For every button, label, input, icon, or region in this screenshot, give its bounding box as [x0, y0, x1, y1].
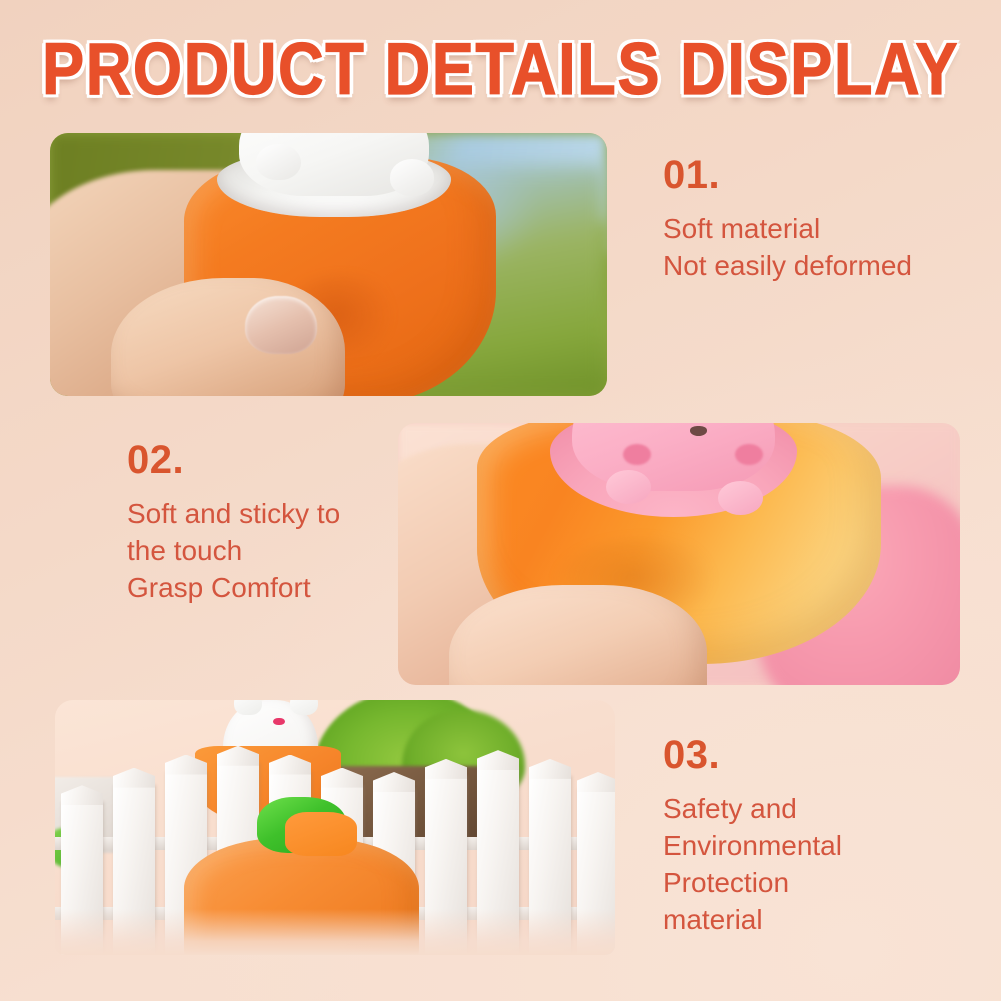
feature-line: Not easily deformed — [663, 248, 912, 285]
product-details-display-page: PRODUCT DETAILS DISPLAY 01. Soft materia… — [0, 0, 1001, 1001]
photo-2-scene — [398, 423, 960, 685]
feature-text-1: Soft material Not easily deformed — [663, 211, 912, 285]
feature-line: Soft and sticky to — [127, 496, 340, 533]
bunny-cheek-right — [735, 444, 763, 465]
feature-line: Soft material — [663, 211, 912, 248]
feature-line: the touch — [127, 533, 340, 570]
fence-picket — [61, 802, 103, 955]
bunny-cheek-left — [623, 444, 651, 465]
thumbnail-shape — [245, 296, 317, 354]
feature-line: material — [663, 902, 842, 939]
bunny-paw-right — [390, 159, 435, 196]
photo-1-scene — [50, 133, 607, 396]
carrot-top-detail — [285, 812, 358, 855]
feature-number-3: 03. — [663, 735, 842, 775]
feature-photo-3 — [55, 700, 615, 955]
feature-line: Protection — [663, 865, 842, 902]
feature-photo-1 — [50, 133, 607, 396]
fence-picket — [113, 785, 155, 955]
bunny-paw-left — [256, 144, 301, 181]
fence-picket — [529, 776, 571, 955]
feature-text-3: Safety and Environmental Protection mate… — [663, 791, 842, 939]
feature-block-3: 03. Safety and Environmental Protection … — [663, 735, 842, 939]
feature-line: Grasp Comfort — [127, 570, 340, 607]
bunny-nose — [273, 718, 284, 726]
bunny-paw-right — [718, 481, 763, 515]
feature-line: Environmental — [663, 828, 842, 865]
feature-photo-2 — [398, 423, 960, 685]
feature-number-2: 02. — [127, 440, 340, 480]
feature-line: Safety and — [663, 791, 842, 828]
feature-block-1: 01. Soft material Not easily deformed — [663, 155, 912, 285]
feature-number-1: 01. — [663, 155, 912, 195]
feature-text-2: Soft and sticky to the touch Grasp Comfo… — [127, 496, 340, 607]
fence-picket — [577, 789, 615, 955]
fence-picket — [477, 767, 519, 955]
photo-3-scene — [55, 700, 615, 955]
fence-picket — [425, 776, 467, 955]
bunny-paw-left — [606, 470, 651, 504]
page-title: PRODUCT DETAILS DISPLAY — [42, 28, 959, 112]
feature-block-2: 02. Soft and sticky to the touch Grasp C… — [127, 440, 340, 607]
page-title-wrapper: PRODUCT DETAILS DISPLAY — [0, 28, 1001, 99]
